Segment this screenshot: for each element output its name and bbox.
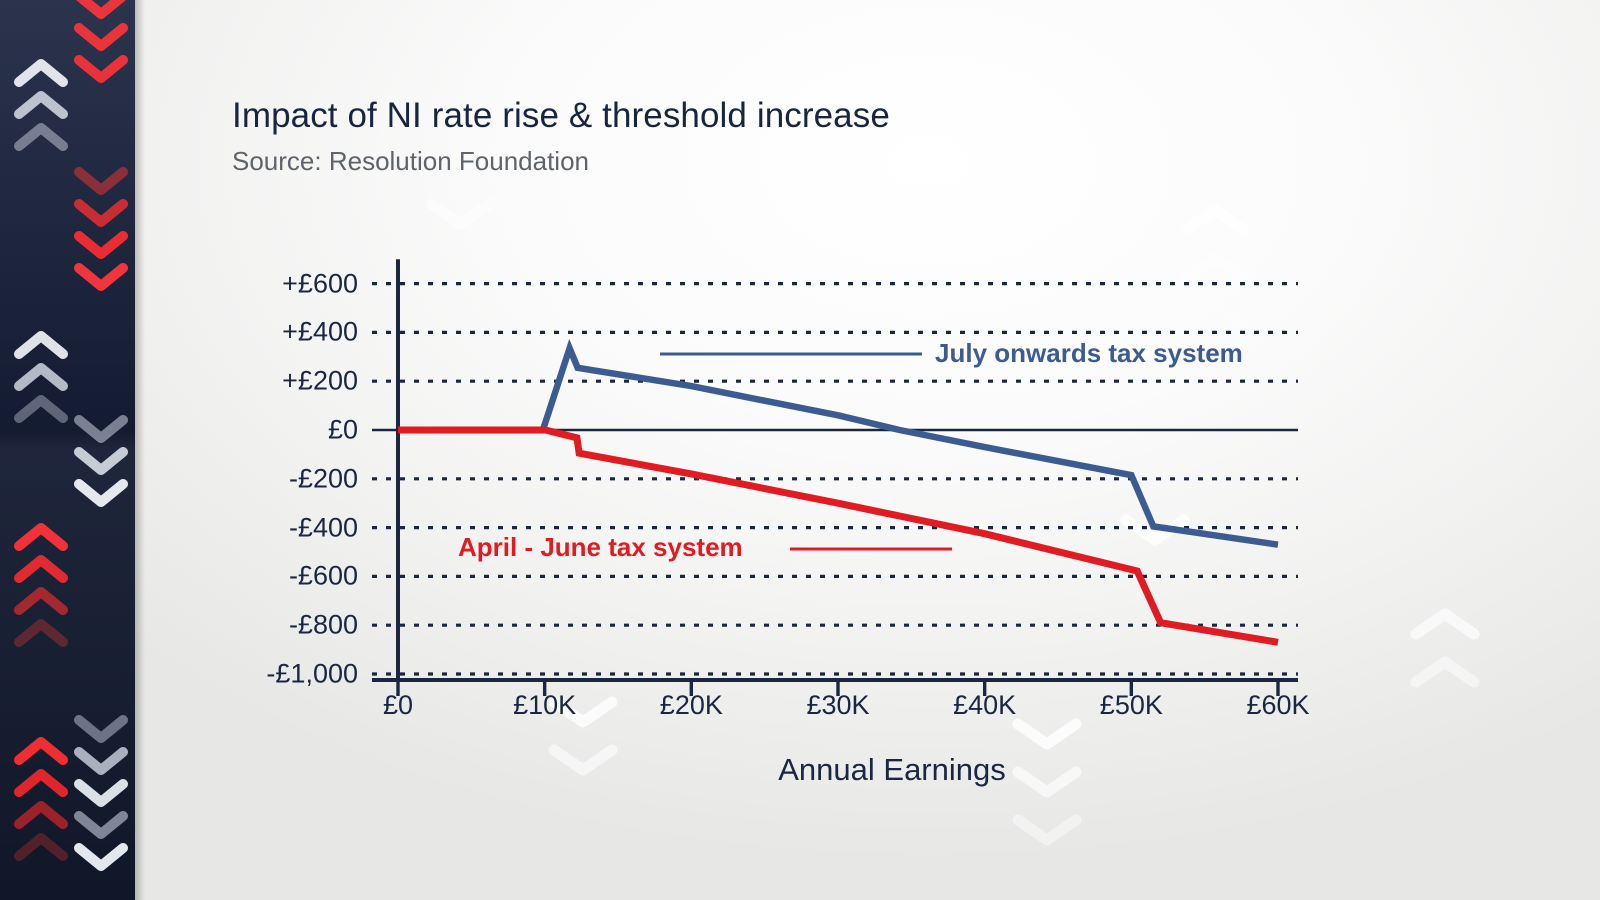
x-axis-title-text: Annual Earnings — [778, 752, 1006, 787]
y-axis-tick-label: +£400 — [218, 317, 358, 348]
y-axis-tick-label: +£600 — [218, 268, 358, 299]
y-axis-tick-label: -£800 — [218, 610, 358, 641]
y-axis-tick-label: -£600 — [218, 561, 358, 592]
x-axis-tick-label: £30K — [806, 690, 869, 721]
x-axis-title: Annual Earnings — [0, 752, 1600, 788]
y-axis-tick-label: -£200 — [218, 463, 358, 494]
y-axis-tick-label: -£400 — [218, 512, 358, 543]
y-axis-tick-label: £0 — [218, 415, 358, 446]
slide-root: Impact of NI rate rise & threshold incre… — [0, 0, 1600, 900]
x-axis-tick-label: £40K — [953, 690, 1016, 721]
series-line-july — [398, 348, 1278, 544]
legend-item-april-june: April - June tax system — [458, 532, 743, 563]
x-axis-tick-label: £10K — [513, 690, 576, 721]
chart-series — [398, 348, 1278, 642]
y-axis-tick-label: +£200 — [218, 366, 358, 397]
y-axis-tick-label: -£1,000 — [218, 659, 358, 690]
legend-item-july: July onwards tax system — [935, 338, 1243, 369]
x-axis-tick-label: £0 — [383, 690, 413, 721]
x-axis-tick-label: £60K — [1246, 690, 1309, 721]
x-axis-tick-label: £20K — [660, 690, 723, 721]
x-axis-tick-label: £50K — [1100, 690, 1163, 721]
